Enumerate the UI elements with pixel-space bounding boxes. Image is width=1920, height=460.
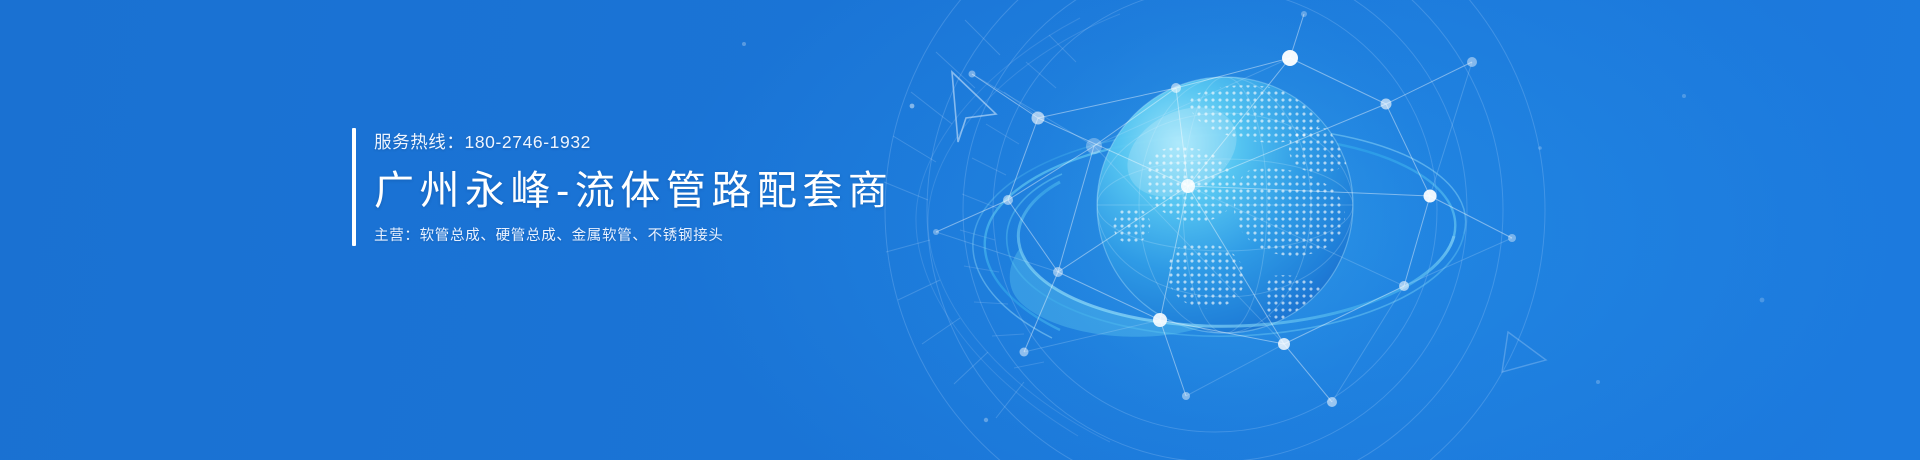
orbit-ring-front-icon — [1007, 174, 1464, 337]
banner-text-block: 服务热线：180-2746-1932 广州永峰-流体管路配套商 主营：软管总成、… — [352, 128, 893, 246]
continents-dots — [1114, 85, 1353, 327]
network-nodes-icon — [933, 11, 1516, 407]
vertical-accent-bar — [352, 128, 356, 246]
service-hotline: 服务热线：180-2746-1932 — [374, 134, 893, 152]
network-mesh-icon — [936, 14, 1512, 402]
network-mesh-faint — [936, 58, 1512, 402]
radial-grid-outer — [916, 14, 1120, 442]
speck-dots-icon — [742, 42, 1764, 422]
banner-graphics — [0, 0, 1920, 460]
radial-grid-icon — [885, 0, 1545, 460]
hero-banner: 服务热线：180-2746-1932 广州永峰-流体管路配套商 主营：软管总成、… — [0, 0, 1920, 460]
cursor-triangle-icon — [952, 72, 996, 142]
orbit-ring-icon — [973, 127, 1466, 338]
radial-grid-rungs — [960, 35, 1076, 368]
radial-grid-spokes — [884, 20, 1024, 418]
business-scope-subtitle: 主营：软管总成、硬管总成、金属软管、不锈钢接头 — [374, 229, 893, 244]
page-title: 广州永峰-流体管路配套商 — [374, 171, 893, 211]
globe-icon — [1097, 77, 1353, 333]
triangle-outline-icon — [1502, 332, 1546, 372]
